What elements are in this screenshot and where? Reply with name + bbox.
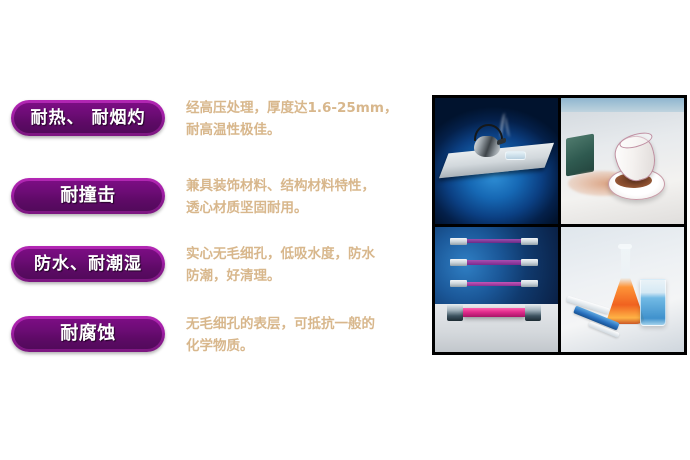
sample-bar-shape [450,280,539,287]
flask-rim-shape [618,244,633,249]
badge-label: 耐热、 耐烟灼 [31,110,146,127]
chemistry-flask-photo [561,227,684,353]
feature-badge-corrosion-resistant[interactable]: 耐腐蚀 [11,316,165,352]
bar-cap-left [450,238,467,245]
bar-cap-left [447,304,463,320]
feature-row: 耐腐蚀 无毛细孔的表层，可抵抗一般的 化学物质。 [0,308,425,374]
feature-description: 无毛细孔的表层，可抵抗一般的 化学物质。 [186,313,424,357]
bar-cap-right [521,259,538,266]
badge-label: 耐腐蚀 [60,325,116,343]
bar-cap-right [521,280,538,287]
kettle-spout-shape [497,138,506,146]
badge-inner: 防水、耐潮湿 [14,249,162,279]
spilled-coffee-cup-photo [561,98,684,224]
feature-badge-waterproof[interactable]: 防水、耐潮湿 [11,246,165,282]
bar-cap-right [525,304,541,320]
feature-list: 耐热、 耐烟灼 经高压处理，厚度达1.6-25mm， 耐高温性极佳。 耐撞击 兼… [0,92,425,372]
kettle-body-shape [474,136,500,157]
image-grid [432,95,687,355]
feature-badge-heat-resistant[interactable]: 耐热、 耐烟灼 [11,100,165,136]
feature-row: 耐撞击 兼具装饰材料、结构材料特性， 透心材质坚固耐用。 [0,170,425,236]
glass-dish-shape [505,151,525,161]
bar-cap-left [450,280,467,287]
badge-inner: 耐热、 耐烟灼 [14,103,162,133]
foreground-sample-bar-shape [447,304,540,320]
bar-cap-right [521,238,538,245]
sponge-shape [566,133,594,176]
badge-inner: 耐撞击 [14,181,162,211]
kettle-on-countertop-photo [435,98,558,224]
bar-tube [467,260,522,264]
beaker-shape [640,279,667,326]
feature-badge-impact-resistant[interactable]: 耐撞击 [11,178,165,214]
sample-bar-shape [450,259,539,266]
badge-label: 防水、耐潮湿 [34,256,142,273]
badge-inner: 耐腐蚀 [14,319,162,349]
feature-description: 实心无毛细孔，低吸水度，防水 防潮，好清理。 [186,243,424,287]
badge-label: 耐撞击 [60,187,116,205]
bar-tube [467,239,522,243]
background-band-shape [561,98,684,112]
bar-tube [467,282,522,286]
steam-wisp-icon [505,117,512,137]
sample-bar-shape [450,238,539,245]
feature-row: 耐热、 耐烟灼 经高压处理，厚度达1.6-25mm， 耐高温性极佳。 [0,92,425,158]
feature-description: 经高压处理，厚度达1.6-25mm， 耐高温性极佳。 [186,97,424,141]
bar-tube [463,308,525,317]
sample-bars-photo [435,227,558,353]
feature-row: 防水、耐潮湿 实心无毛细孔，低吸水度，防水 防潮，好清理。 [0,238,425,304]
bar-cap-left [450,259,467,266]
feature-description: 兼具装饰材料、结构材料特性， 透心材质坚固耐用。 [186,175,424,219]
